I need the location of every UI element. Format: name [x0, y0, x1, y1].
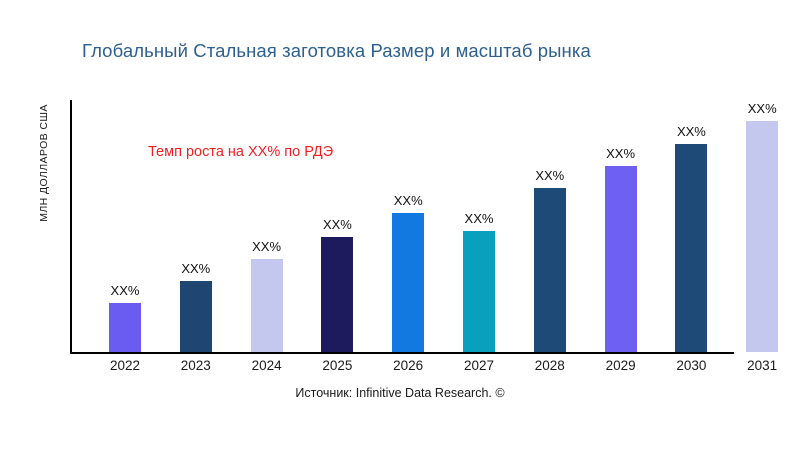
bar-group: XX%: [675, 144, 707, 352]
source-note: Источник: Infinitive Data Research. ©: [0, 386, 800, 400]
chart-canvas: Глобальный Стальная заготовка Размер и м…: [0, 0, 800, 450]
bar-group: XX%: [605, 166, 637, 352]
x-tick-label-2023: 2023: [166, 358, 226, 373]
bar-2026[interactable]: [392, 213, 424, 352]
bar-2025[interactable]: [321, 237, 353, 352]
x-tick-label-2029: 2029: [591, 358, 651, 373]
plot-area: XX%2022XX%2023XX%2024XX%2025XX%2026XX%20…: [0, 0, 800, 450]
bar-value-label-2024: XX%: [252, 239, 281, 254]
growth-rate-annotation: Темп роста на XX% по РДЭ: [148, 144, 333, 160]
bar-group: XX%: [746, 121, 778, 352]
bar-value-label-2023: XX%: [181, 261, 210, 276]
bar-group: XX%: [251, 259, 283, 352]
x-tick-label-2022: 2022: [95, 358, 155, 373]
x-tick-label-2031: 2031: [732, 358, 792, 373]
bar-value-label-2027: XX%: [465, 211, 494, 226]
bar-value-label-2029: XX%: [606, 146, 635, 161]
bar-group: XX%: [463, 231, 495, 352]
bar-value-label-2022: XX%: [111, 283, 140, 298]
bar-group: XX%: [109, 303, 141, 352]
bar-value-label-2028: XX%: [535, 168, 564, 183]
bar-2022[interactable]: [109, 303, 141, 352]
bar-value-label-2026: XX%: [394, 193, 423, 208]
bar-2030[interactable]: [675, 144, 707, 352]
bar-2027[interactable]: [463, 231, 495, 352]
bar-2031[interactable]: [746, 121, 778, 352]
bar-value-label-2031: XX%: [748, 101, 777, 116]
x-tick-label-2025: 2025: [307, 358, 367, 373]
x-tick-label-2027: 2027: [449, 358, 509, 373]
bar-2023[interactable]: [180, 281, 212, 352]
bar-2029[interactable]: [605, 166, 637, 352]
bar-value-label-2030: XX%: [677, 124, 706, 139]
bar-value-label-2025: XX%: [323, 217, 352, 232]
bar-group: XX%: [180, 281, 212, 352]
x-tick-label-2030: 2030: [661, 358, 721, 373]
x-tick-label-2024: 2024: [237, 358, 297, 373]
bar-group: XX%: [534, 188, 566, 352]
bar-2024[interactable]: [251, 259, 283, 352]
bar-group: XX%: [392, 213, 424, 352]
bar-group: XX%: [321, 237, 353, 352]
x-tick-label-2028: 2028: [520, 358, 580, 373]
bar-2028[interactable]: [534, 188, 566, 352]
x-tick-label-2026: 2026: [378, 358, 438, 373]
